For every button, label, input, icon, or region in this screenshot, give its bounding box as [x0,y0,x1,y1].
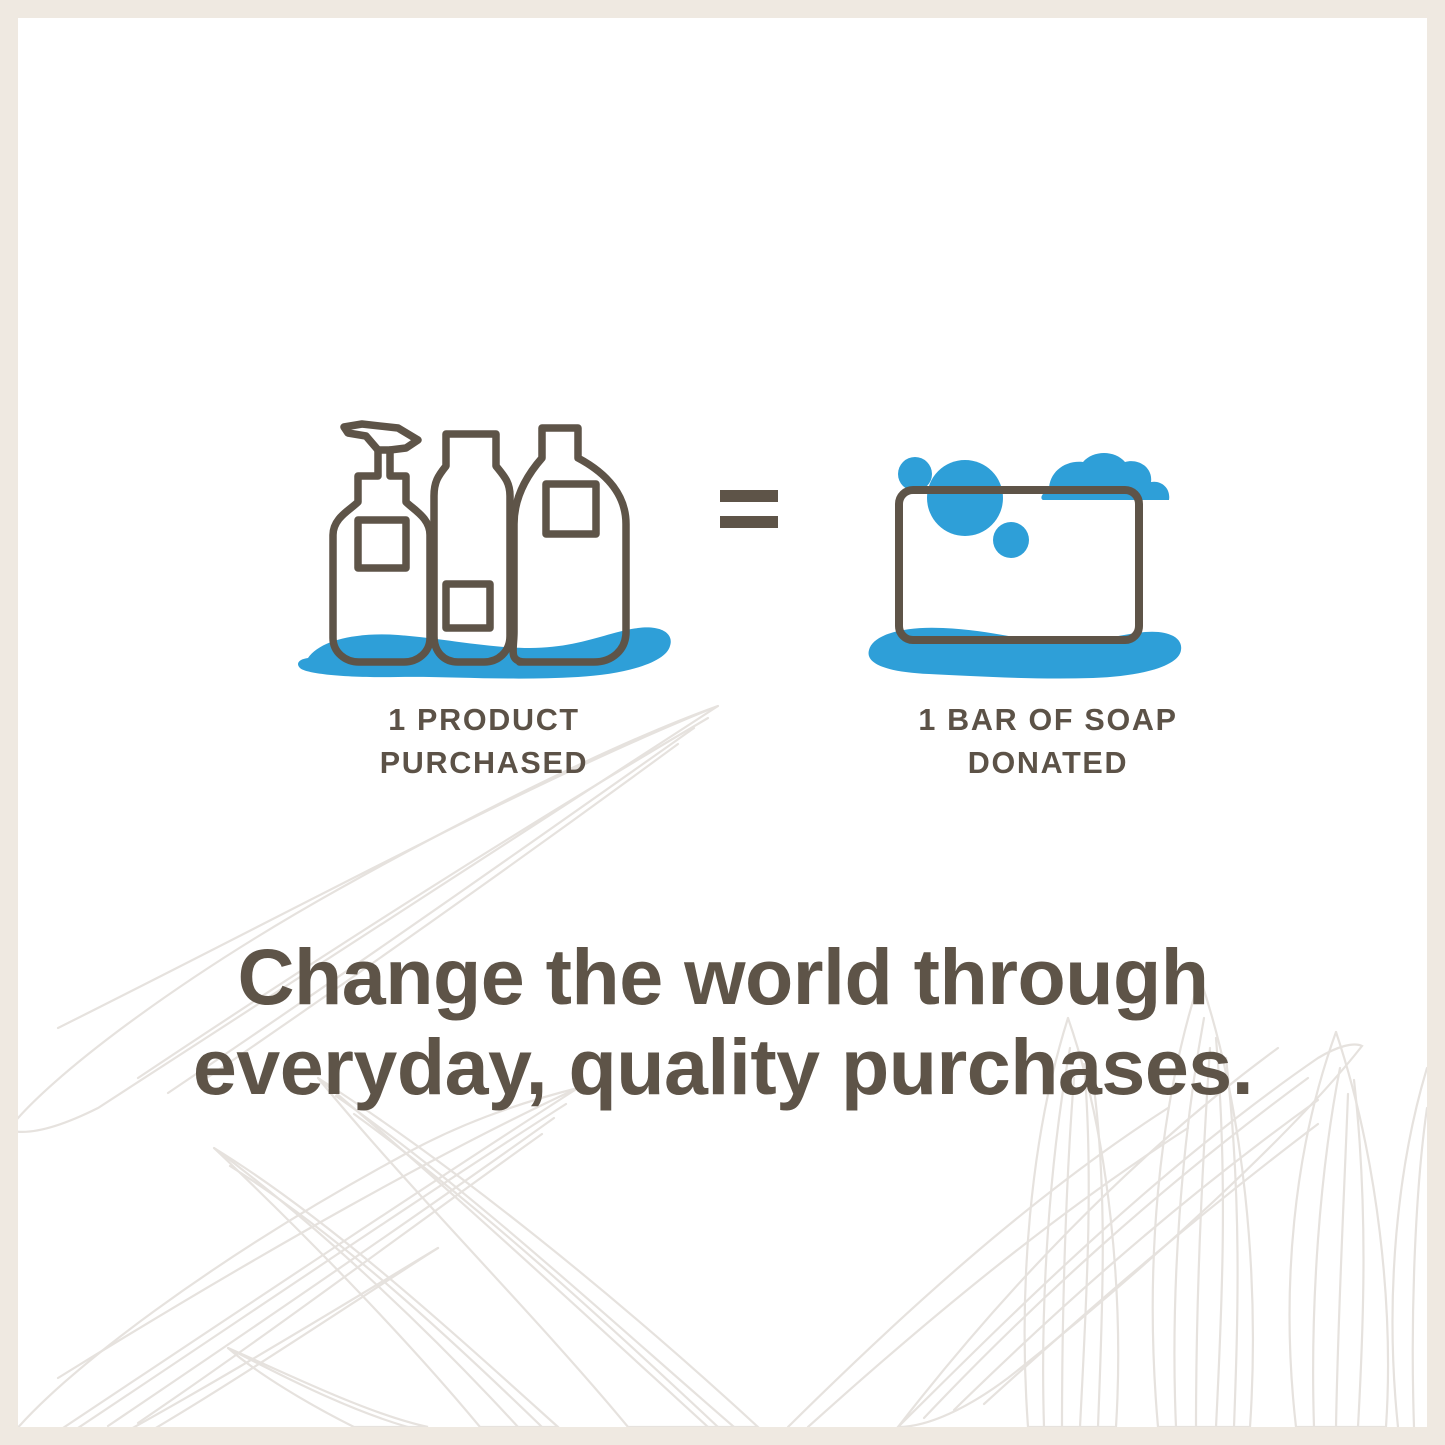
poster-frame: 1 PRODUCT PURCHASED 1 BAR OF SOAP DONATE… [18,18,1427,1427]
pump-nozzle [344,424,418,450]
pump-bottle-body [333,450,430,662]
bubble-small-top [898,457,932,491]
headline-text: Change the world through everyday, quali… [58,932,1388,1112]
soap-bar-icon [843,428,1203,698]
three-bottles-icon [278,400,698,700]
bubble-large [927,460,1003,536]
equals-sign-icon [718,482,780,538]
round-bottle-body [513,428,626,662]
donation-equation-row [18,400,1427,700]
tall-bottle-label [446,584,490,628]
bubble-small-inner [993,522,1029,558]
round-bottle-label [546,484,596,534]
equals-bar-top [720,490,778,502]
caption-product-purchased: 1 PRODUCT PURCHASED [284,699,684,786]
pump-bottle-label [358,520,406,568]
equals-bar-bottom [720,516,778,528]
caption-soap-donated: 1 BAR OF SOAP DONATED [838,699,1258,786]
